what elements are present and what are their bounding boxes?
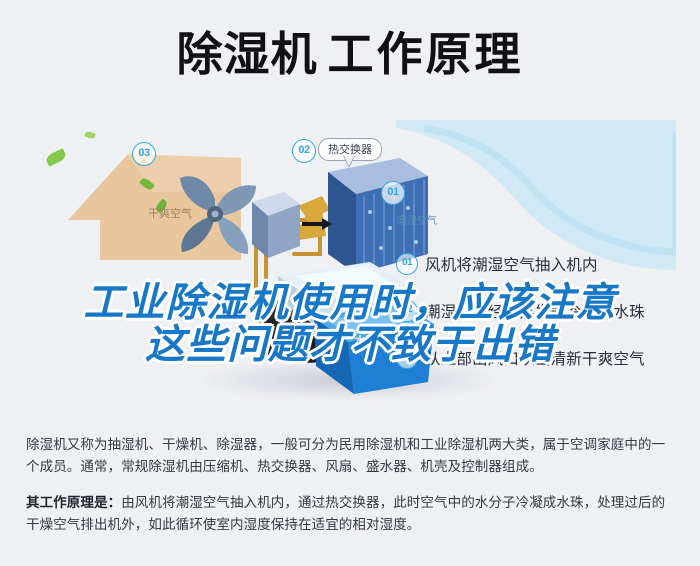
label-dry-air: 干爽空气 — [148, 205, 192, 221]
diagram-badge-02: 02 — [292, 139, 316, 163]
article-paragraph-2: 其工作原理是：由风机将潮湿空气抽入机内，通过热交换器，此时空气中的水分子冷凝成水… — [26, 492, 678, 536]
heat-exchanger-callout-tail — [343, 156, 355, 168]
list-item: 02 潮湿空气经过蒸发器冷凝成水珠 — [396, 295, 686, 327]
article-paragraph-2-text: 由风机将潮湿空气抽入机内，通过热交换器，此时空气中的水分子冷凝成水珠，处理过后的… — [26, 495, 665, 532]
article-paragraph-2-lead: 其工作原理是： — [26, 495, 121, 510]
page-title-part-b: 工作原理 — [328, 28, 524, 80]
article-paragraph-1: 除湿机又称为抽湿机、干燥机、除湿器，一般可分为民用除湿机和工业除湿机两大类，属于… — [26, 434, 678, 478]
article-body: 除湿机又称为抽湿机、干燥机、除湿器，一般可分为民用除湿机和工业除湿机两大类，属于… — [26, 420, 678, 550]
page-title-part-a: 除湿机 — [177, 28, 318, 80]
diagram-badge-01: 01 — [381, 181, 405, 205]
leaf-icon — [45, 148, 68, 166]
label-moist-air: 潮湿空气 — [397, 212, 437, 227]
page-title: 除湿机工作原理 — [0, 28, 700, 81]
step-text: 风机将潮湿空气抽入机内 — [425, 253, 598, 275]
step-text: 潮湿空气经过蒸发器冷凝成水珠 — [425, 300, 645, 322]
label-water-tank: 水箱 — [355, 332, 375, 347]
leaf-icon — [84, 130, 95, 139]
process-step-list: 01 风机将潮湿空气抽入机内 02 潮湿空气经过蒸发器冷凝成水珠 03 从上部出… — [396, 248, 686, 389]
list-item: 03 从上部出风口吹出清新干爽空气 — [396, 342, 686, 374]
step-number-badge: 01 — [396, 253, 418, 275]
list-item: 01 风机将潮湿空气抽入机内 — [396, 248, 686, 280]
diagram-badge-03: 03 — [132, 142, 156, 166]
step-number-badge: 03 — [396, 347, 418, 369]
step-number-badge: 02 — [396, 300, 418, 322]
step-text: 从上部出风口吹出清新干爽空气 — [425, 347, 645, 369]
